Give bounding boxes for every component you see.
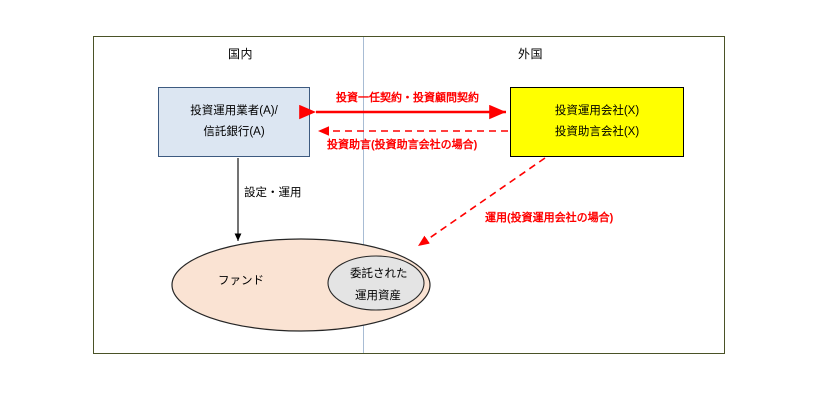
diagram-canvas: 国内 外国 投資運用業者(A)/ 信託銀行(A) 投資運用会社(X) 投資助言会…	[0, 0, 819, 400]
country-divider-line	[363, 37, 364, 353]
ellipse-label-fund: ファンド	[218, 272, 264, 288]
box-foreign-entity: 投資運用会社(X) 投資助言会社(X)	[510, 87, 684, 157]
box-foreign-line-2: 投資助言会社(X)	[555, 122, 639, 144]
arrow-label-mandate-contract: 投資一任契約・投資顧問契約	[336, 89, 479, 105]
arrow-label-setup-operation: 設定・運用	[244, 184, 302, 200]
ellipse-label-entrusted-line-1: 委託された	[350, 265, 408, 281]
region-label-domestic: 国内	[228, 45, 253, 62]
box-domestic-line-2: 信託銀行(A)	[203, 122, 264, 144]
box-domestic-line-1: 投資運用業者(A)/	[190, 101, 278, 123]
arrow-label-investment-advice: 投資助言(投資助言会社の場合)	[327, 136, 477, 152]
box-foreign-line-1: 投資運用会社(X)	[555, 101, 639, 123]
arrow-label-management: 運用(投資運用会社の場合)	[485, 209, 613, 225]
region-label-foreign: 外国	[518, 45, 543, 62]
box-domestic-entity: 投資運用業者(A)/ 信託銀行(A)	[158, 87, 310, 157]
diagram-frame	[93, 36, 725, 354]
ellipse-label-entrusted-line-2: 運用資産	[355, 287, 401, 303]
